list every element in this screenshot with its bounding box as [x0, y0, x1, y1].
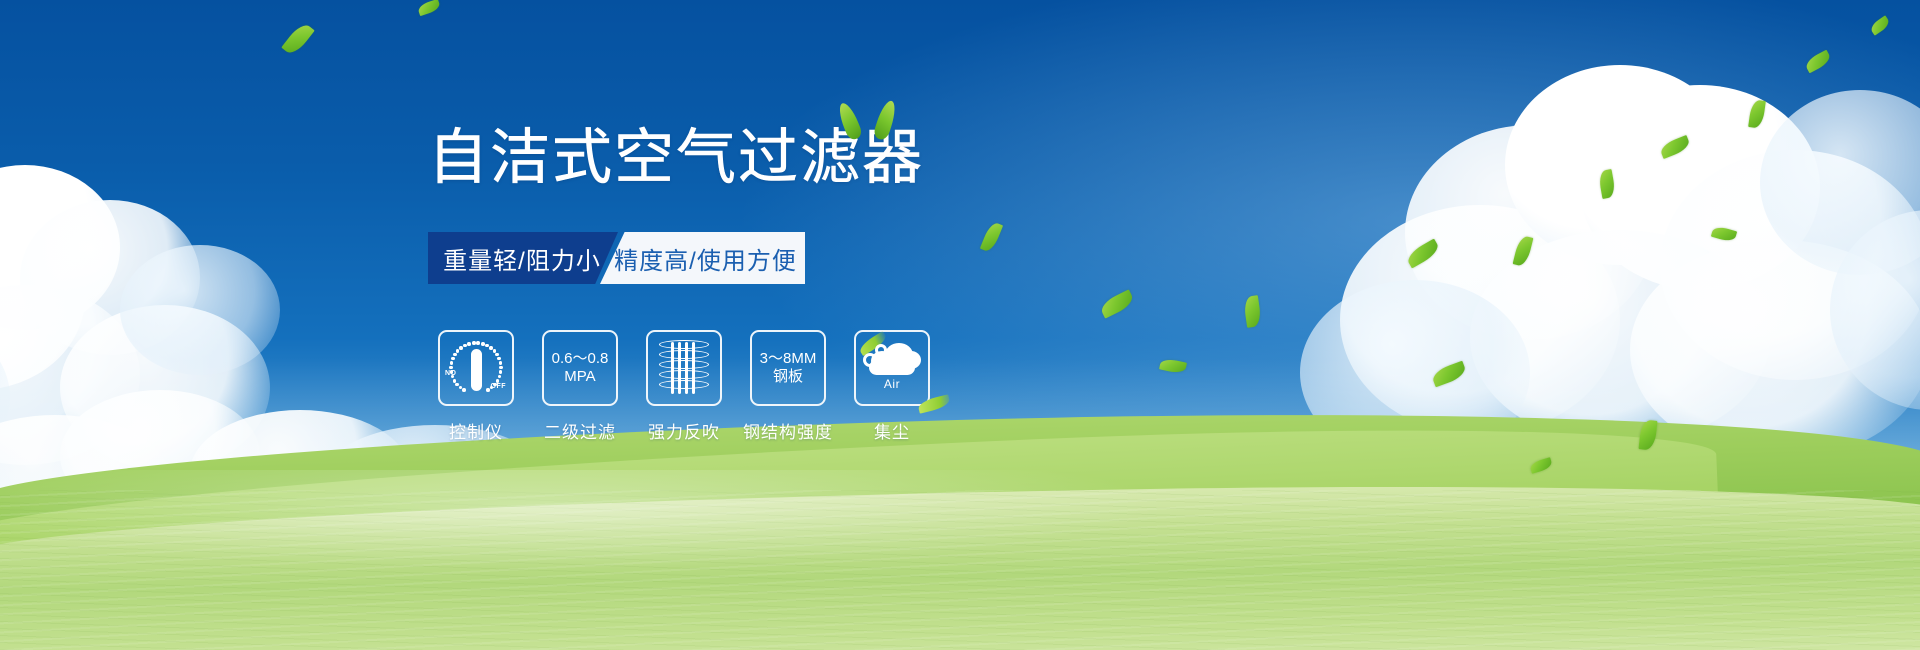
dial-tick-dot: [459, 346, 463, 350]
feature-item-backblow[interactable]: 强力反吹: [646, 330, 722, 443]
pressure-range-line: 0.6～0.8: [552, 350, 609, 368]
air-label: Air: [884, 377, 900, 391]
subtitle-tabs: 重量轻/阻力小 精度高/使用方便: [428, 232, 805, 284]
dial-tick-dot: [472, 341, 476, 345]
feature-icon-box: NO OFF: [438, 330, 514, 406]
feature-label: 控制仪: [449, 418, 503, 443]
dial-tick-dot: [451, 375, 455, 379]
feature-list: NO OFF 控制仪 0.6～0.8 MPA 二级过滤: [438, 330, 930, 443]
grass-highlight: [0, 470, 1920, 590]
dial-tick-dot: [449, 366, 453, 370]
dial-tick-dot: [455, 383, 459, 387]
dial-tick-dot: [481, 342, 485, 346]
air-cloud-icon: [863, 341, 921, 375]
control-dial-icon: NO OFF: [445, 337, 507, 399]
dial-tick-dot: [450, 370, 454, 374]
dial-tick-dot: [499, 370, 503, 374]
dial-tick-dot: [499, 366, 503, 370]
feature-icon-box: 0.6～0.8 MPA: [542, 330, 618, 406]
subtitle-tab-primary[interactable]: 重量轻/阻力小: [428, 232, 618, 284]
dial-tick-dot: [496, 379, 500, 383]
dial-tick-dot: [495, 353, 499, 357]
dial-tick-dot: [456, 349, 460, 353]
feature-icon-box: Air: [854, 330, 930, 406]
feature-label: 二级过滤: [544, 418, 616, 443]
dial-tick-dot: [493, 383, 497, 387]
dial-tick-dot: [450, 361, 454, 365]
dial-tick-dot: [451, 357, 455, 361]
feature-label: 钢结构强度: [743, 418, 833, 443]
pressure-text-icon: 0.6～0.8 MPA: [552, 350, 609, 385]
steel-plate-text-icon: 3～8MM 钢板: [760, 350, 817, 385]
dial-tick-dot: [498, 375, 502, 379]
dial-tick-dot: [467, 342, 471, 346]
feature-label: 集尘: [874, 418, 910, 443]
dial-pointer: [471, 349, 482, 391]
feature-item-two-stage-filter[interactable]: 0.6～0.8 MPA 二级过滤: [542, 330, 618, 443]
swirl-ring-icon: [875, 344, 887, 356]
steel-material-line: 钢板: [760, 368, 817, 386]
filter-stack-icon: [659, 340, 709, 396]
product-banner: 自洁式空气过滤器 重量轻/阻力小 精度高/使用方便 NO OFF 控制仪: [0, 0, 1920, 650]
dial-tick-dot: [476, 341, 480, 345]
steel-thickness-line: 3～8MM: [760, 350, 817, 368]
pressure-unit-line: MPA: [552, 368, 609, 386]
subtitle-tab-secondary[interactable]: 精度高/使用方便: [600, 232, 805, 284]
dial-tick-dot: [453, 353, 457, 357]
dial-tick-dot: [486, 388, 490, 392]
feature-item-dust-collection[interactable]: Air 集尘: [854, 330, 930, 443]
dial-tick-dot: [453, 379, 457, 383]
dial-tick-dot: [463, 344, 467, 348]
feature-item-steel-strength[interactable]: 3～8MM 钢板 钢结构强度: [750, 330, 826, 443]
feature-item-controller[interactable]: NO OFF 控制仪: [438, 330, 514, 443]
dial-tick-dot: [499, 361, 503, 365]
feature-label: 强力反吹: [648, 418, 720, 443]
feature-icon-box: 3～8MM 钢板: [750, 330, 826, 406]
title-block: 自洁式空气过滤器: [428, 128, 924, 188]
feature-icon-box: [646, 330, 722, 406]
swirl-ring-icon: [863, 353, 877, 367]
dial-tick-dot: [497, 357, 501, 361]
dial-tick-dot: [462, 388, 466, 392]
